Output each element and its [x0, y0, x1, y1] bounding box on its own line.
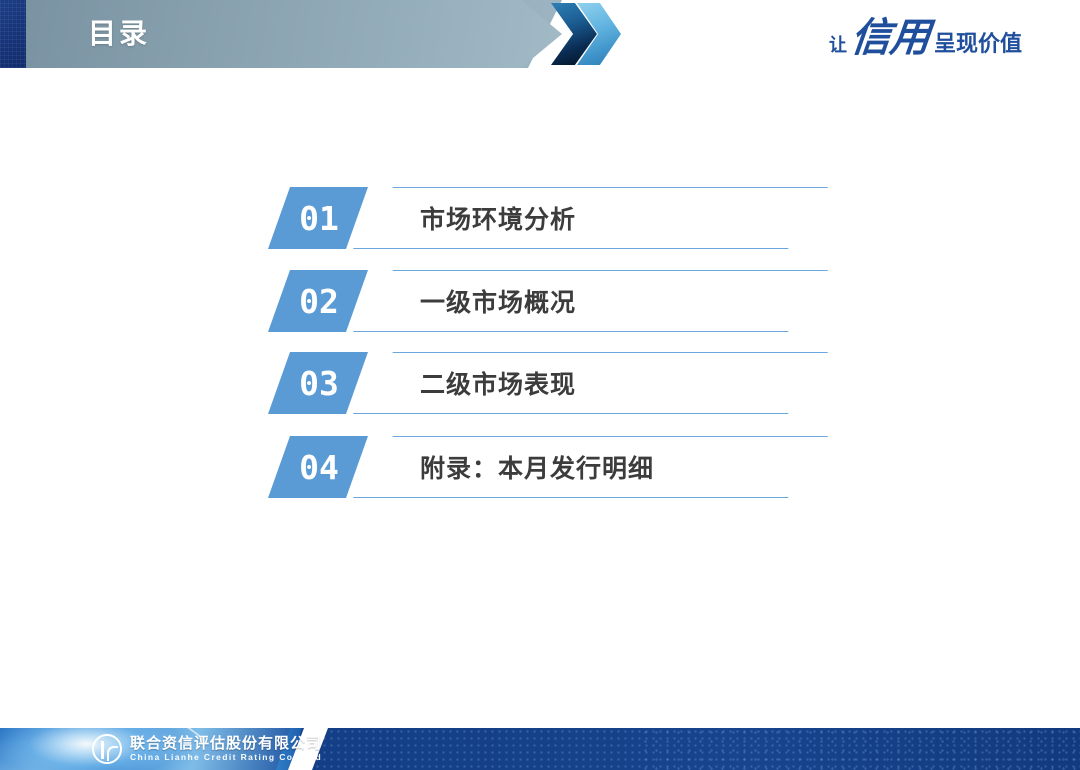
- company-name-cn: 联合资信评估股份有限公司: [130, 736, 322, 752]
- toc-item-number: 02: [268, 270, 368, 332]
- slide-footer: 联合资信评估股份有限公司 China Lianhe Credit Rating …: [0, 728, 1080, 770]
- toc-item-label: 市场环境分析: [420, 187, 576, 249]
- slide-canvas: 目录 让 信用 呈现价值 01 市场环境分析 02 一级市场概况 03 二级市场…: [0, 0, 1080, 770]
- toc-item-number: 01: [268, 187, 368, 249]
- company-name-en: China Lianhe Credit Rating Co .,Ltd: [130, 753, 322, 762]
- footer-dot-pattern-secondary: [640, 728, 1080, 770]
- company-logo: 联合资信评估股份有限公司 China Lianhe Credit Rating …: [92, 734, 322, 764]
- toc-item-03[interactable]: 03 二级市场表现: [268, 352, 828, 414]
- toc-item-number: 04: [268, 436, 368, 498]
- toc-item-number: 03: [268, 352, 368, 414]
- toc-item-01[interactable]: 01 市场环境分析: [268, 187, 828, 249]
- lianhe-logo-icon: [92, 734, 122, 764]
- toc-item-label: 附录：本月发行明细: [420, 436, 654, 498]
- toc-item-04[interactable]: 04 附录：本月发行明细: [268, 436, 828, 498]
- toc-item-label: 一级市场概况: [420, 270, 576, 332]
- toc-item-02[interactable]: 02 一级市场概况: [268, 270, 828, 332]
- company-name-block: 联合资信评估股份有限公司 China Lianhe Credit Rating …: [130, 736, 322, 763]
- toc-list: 01 市场环境分析 02 一级市场概况 03 二级市场表现 04 附录：本月发行…: [0, 0, 1080, 770]
- toc-item-label: 二级市场表现: [420, 352, 576, 414]
